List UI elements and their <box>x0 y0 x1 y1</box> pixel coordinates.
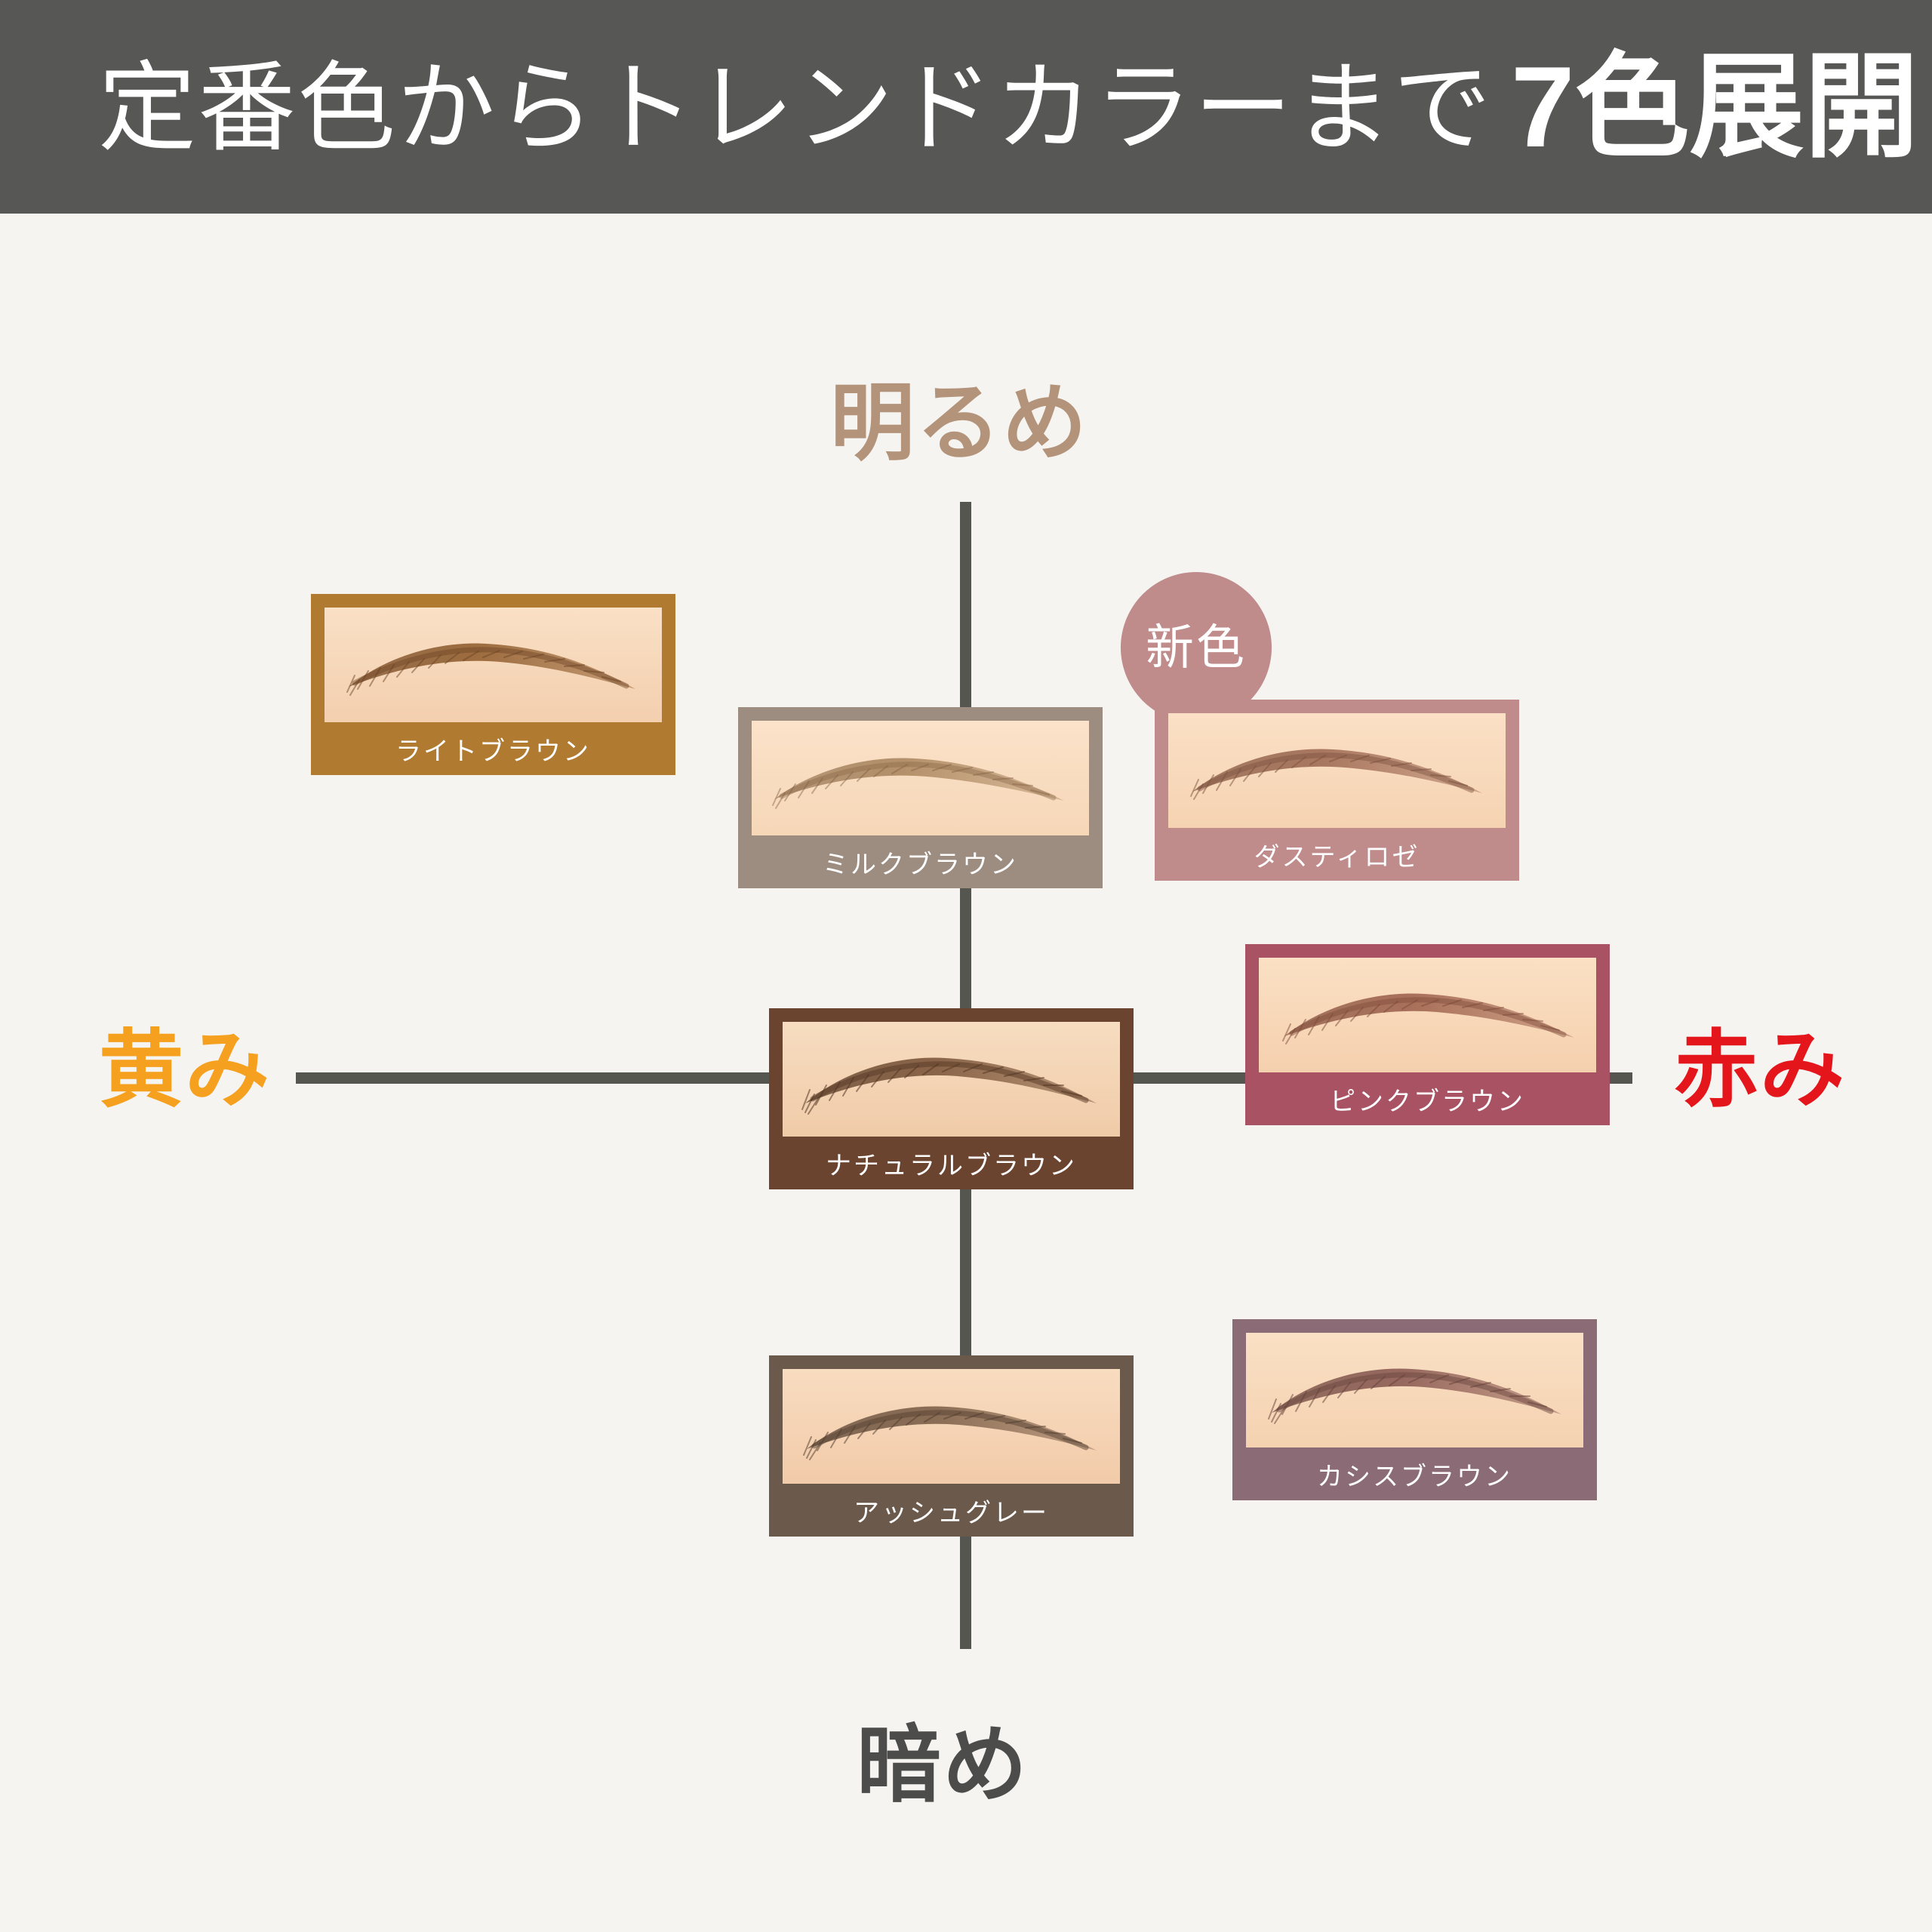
shade-label: ナチュラルブラウン <box>783 1153 1120 1179</box>
shade-label: ダスティロゼ <box>1168 844 1506 870</box>
shade-label: カシスブラウン <box>1246 1464 1583 1490</box>
axis-label-yellow: 黄み <box>99 1028 271 1112</box>
page-title-main: 定番色からトレンドカラーまで <box>98 53 1493 163</box>
page-title-emphasis: 7色展開 <box>1511 43 1919 171</box>
shade-card-pink-brown[interactable]: ピンクブラウン <box>1245 944 1610 1125</box>
shade-card-dusty-rose[interactable]: ダスティロゼ <box>1155 700 1519 881</box>
eyebrow-illustration <box>783 1022 1120 1137</box>
axis-label-red: 赤み <box>1674 1028 1846 1112</box>
shade-map-chart: 明るめ 暗め 黄み 赤み <box>0 214 1932 1932</box>
new-color-badge-label: 新色 <box>1146 623 1247 672</box>
shade-label: ライトブラウン <box>325 739 662 764</box>
header-banner: 定番色からトレンドカラーまで7色展開 <box>0 0 1932 214</box>
eyebrow-illustration <box>1168 713 1506 828</box>
shade-card-cassis-brown[interactable]: カシスブラウン <box>1232 1319 1597 1500</box>
axis-label-bright: 明るめ <box>830 381 1088 466</box>
shade-label: ミルクブラウン <box>752 852 1089 878</box>
shade-photo <box>783 1369 1120 1484</box>
page-title: 定番色からトレンドカラーまで7色展開 <box>98 50 1919 165</box>
shade-photo <box>325 608 662 722</box>
shade-card-ash-gray[interactable]: アッシュグレー <box>769 1355 1134 1537</box>
shade-card-milk-brown[interactable]: ミルクブラウン <box>738 707 1103 888</box>
eyebrow-illustration <box>752 721 1089 835</box>
shade-photo <box>1246 1333 1583 1447</box>
shade-photo <box>1259 958 1596 1072</box>
axis-label-dark: 暗め <box>857 1723 1029 1807</box>
eyebrow-illustration <box>1246 1333 1583 1447</box>
shade-card-natural-brown[interactable]: ナチュラルブラウン <box>769 1008 1134 1189</box>
shade-photo <box>1168 713 1506 828</box>
eyebrow-illustration <box>325 608 662 722</box>
eyebrow-illustration <box>783 1369 1120 1484</box>
eyebrow-illustration <box>1259 958 1596 1072</box>
shade-photo <box>752 721 1089 835</box>
shade-label: ピンクブラウン <box>1259 1089 1596 1115</box>
shade-photo <box>783 1022 1120 1137</box>
shade-card-light-brown[interactable]: ライトブラウン <box>311 594 675 775</box>
shade-label: アッシュグレー <box>783 1500 1120 1526</box>
